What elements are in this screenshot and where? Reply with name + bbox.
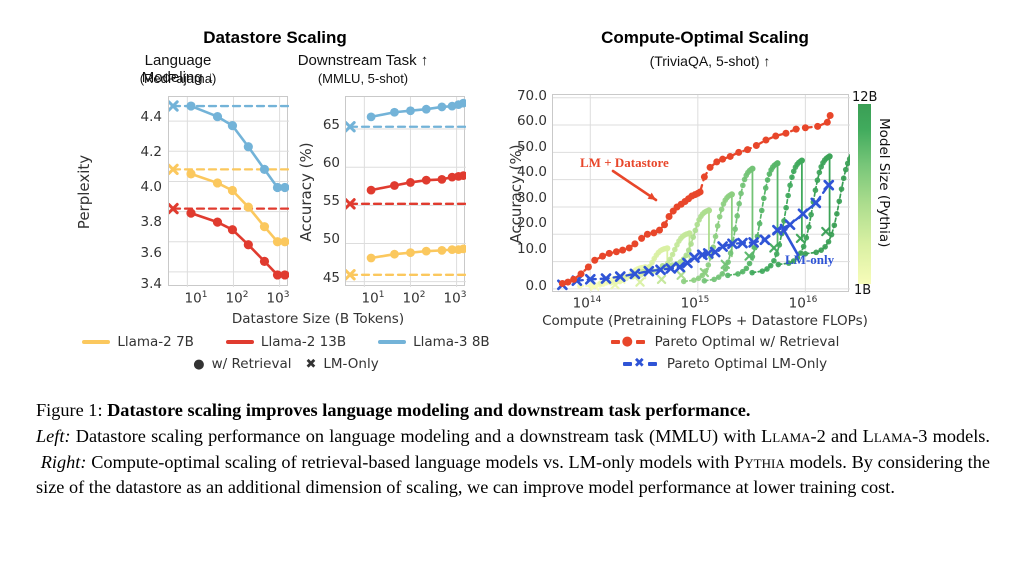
chart1-ytick: 3.8	[110, 214, 162, 230]
chart2-xtick: 103	[435, 290, 475, 307]
chart2-ytick: 45	[292, 270, 340, 286]
chart1-subtitle: (RedPajama)	[118, 71, 238, 86]
caption-label: Figure 1:	[36, 400, 103, 420]
chart1-ytick: 4.4	[110, 109, 162, 125]
colorbar-max-label: 12B	[852, 90, 877, 105]
legend-item-llama2-7b[interactable]: Llama-2 7B	[82, 334, 194, 350]
chart3-ytick: 30.0	[485, 190, 547, 206]
legend-label: Llama-3 8B	[413, 334, 490, 350]
chart2-xtick: 102	[394, 290, 434, 307]
caption-right-text-a: Compute-optimal scaling of retrieval-bas…	[91, 452, 729, 472]
legend-label: w/ Retrieval	[212, 356, 292, 372]
chart3-ytick: 50.0	[485, 139, 547, 155]
chart3-xtick: 1014	[562, 295, 612, 312]
chart2-xtick: 101	[353, 290, 393, 307]
caption-llama3: Llama-3	[863, 426, 928, 446]
right-legend-retrieval[interactable]: ● Pareto Optimal w/ Retrieval	[560, 334, 890, 350]
legend-line-swatch	[82, 340, 110, 344]
circle-marker-icon: ●	[622, 336, 633, 348]
figure-caption: Figure 1: Datastore scaling improves lan…	[36, 398, 990, 501]
left-xlabel: Datastore Size (B Tokens)	[178, 311, 458, 327]
x-marker-icon: ✖	[634, 358, 645, 370]
chart1-ytick: 4.0	[110, 179, 162, 195]
legend-line-swatch	[226, 340, 254, 344]
chart2-ytick: 55	[292, 193, 340, 209]
legend-key-retrieval: ●	[611, 336, 645, 348]
chart3-ytick: 60.0	[485, 113, 547, 129]
caption-llama2: Llama-2	[761, 426, 826, 446]
legend-line-swatch	[378, 340, 406, 344]
figure-root: Datastore Scaling Compute-Optimal Scalin…	[0, 0, 1024, 580]
chart3-xtick: 1016	[778, 295, 828, 312]
chart2-subtitle: (MMLU, 5-shot)	[283, 71, 443, 86]
caption-left-text: Datastore scaling performance on languag…	[76, 426, 756, 446]
legend-label: Llama-2 13B	[261, 334, 346, 350]
caption-and: and	[831, 426, 857, 446]
legend-label: LM-Only	[323, 356, 378, 372]
chart1-ytick: 3.4	[110, 276, 162, 292]
chart1-plot-area	[168, 96, 288, 286]
colorbar-min-label: 1B	[854, 283, 871, 298]
x-marker-icon: ✖	[305, 358, 316, 371]
annotation-lm-datastore: LM + Datastore	[580, 155, 669, 171]
legend-label: Pareto Optimal LM-Only	[667, 356, 827, 372]
colorbar-title: Model Size (Pythia)	[876, 118, 892, 247]
right-legend-lmonly[interactable]: ✖ Pareto Optimal LM-Only	[560, 356, 890, 372]
chart3-ytick: 40.0	[485, 164, 547, 180]
right-panel-title: Compute-Optimal Scaling	[540, 28, 870, 48]
chart2-title: Downstream Task ↑	[283, 52, 443, 69]
chart3-ytick: 70.0	[485, 88, 547, 104]
caption-pythia: Pythia	[734, 452, 785, 472]
left-panel-title: Datastore Scaling	[130, 28, 420, 48]
legend-item-lm-only[interactable]: ✖ LM-Only	[305, 356, 378, 372]
chart3-ytick: 0.0	[485, 278, 547, 294]
annotation-lm-only: LM-only	[785, 252, 834, 268]
chart3-xlabel: Compute (Pretraining FLOPs + Datastore F…	[540, 313, 870, 329]
circle-marker-icon: ●	[193, 358, 204, 371]
chart2-ytick: 50	[292, 231, 340, 247]
left-legend-markers: ● w/ Retrieval ✖ LM-Only	[86, 356, 486, 372]
legend-item-with-retrieval[interactable]: ● w/ Retrieval	[193, 356, 291, 372]
chart1-ytick: 4.2	[110, 144, 162, 160]
chart3-ytick: 20.0	[485, 215, 547, 231]
chart2-plot-area	[345, 96, 465, 286]
left-legend-models: Llama-2 7B Llama-2 13B Llama-3 8B	[86, 334, 486, 350]
chart1-ylabel: Perplexity	[75, 102, 93, 282]
chart3-subtitle: (TriviaQA, 5-shot) ↑	[590, 53, 830, 69]
chart3-ytick: 10.0	[485, 241, 547, 257]
legend-item-llama2-13b[interactable]: Llama-2 13B	[226, 334, 346, 350]
chart2-ytick: 65	[292, 117, 340, 133]
chart3-xtick: 1015	[670, 295, 720, 312]
legend-key-lmonly: ✖	[623, 358, 657, 370]
caption-models-period: models.	[933, 426, 990, 446]
caption-left-tag: Left:	[36, 426, 71, 446]
chart1-xtick: 102	[217, 290, 257, 307]
model-size-colorbar	[858, 104, 871, 284]
chart2-ytick: 60	[292, 155, 340, 171]
chart1-xtick: 103	[258, 290, 298, 307]
legend-item-llama3-8b[interactable]: Llama-3 8B	[378, 334, 490, 350]
chart1-xtick: 101	[176, 290, 216, 307]
caption-bold: Datastore scaling improves language mode…	[107, 400, 750, 420]
caption-right-tag: Right:	[41, 452, 87, 472]
legend-label: Pareto Optimal w/ Retrieval	[655, 334, 840, 350]
chart1-ytick: 3.6	[110, 245, 162, 261]
legend-label: Llama-2 7B	[117, 334, 194, 350]
